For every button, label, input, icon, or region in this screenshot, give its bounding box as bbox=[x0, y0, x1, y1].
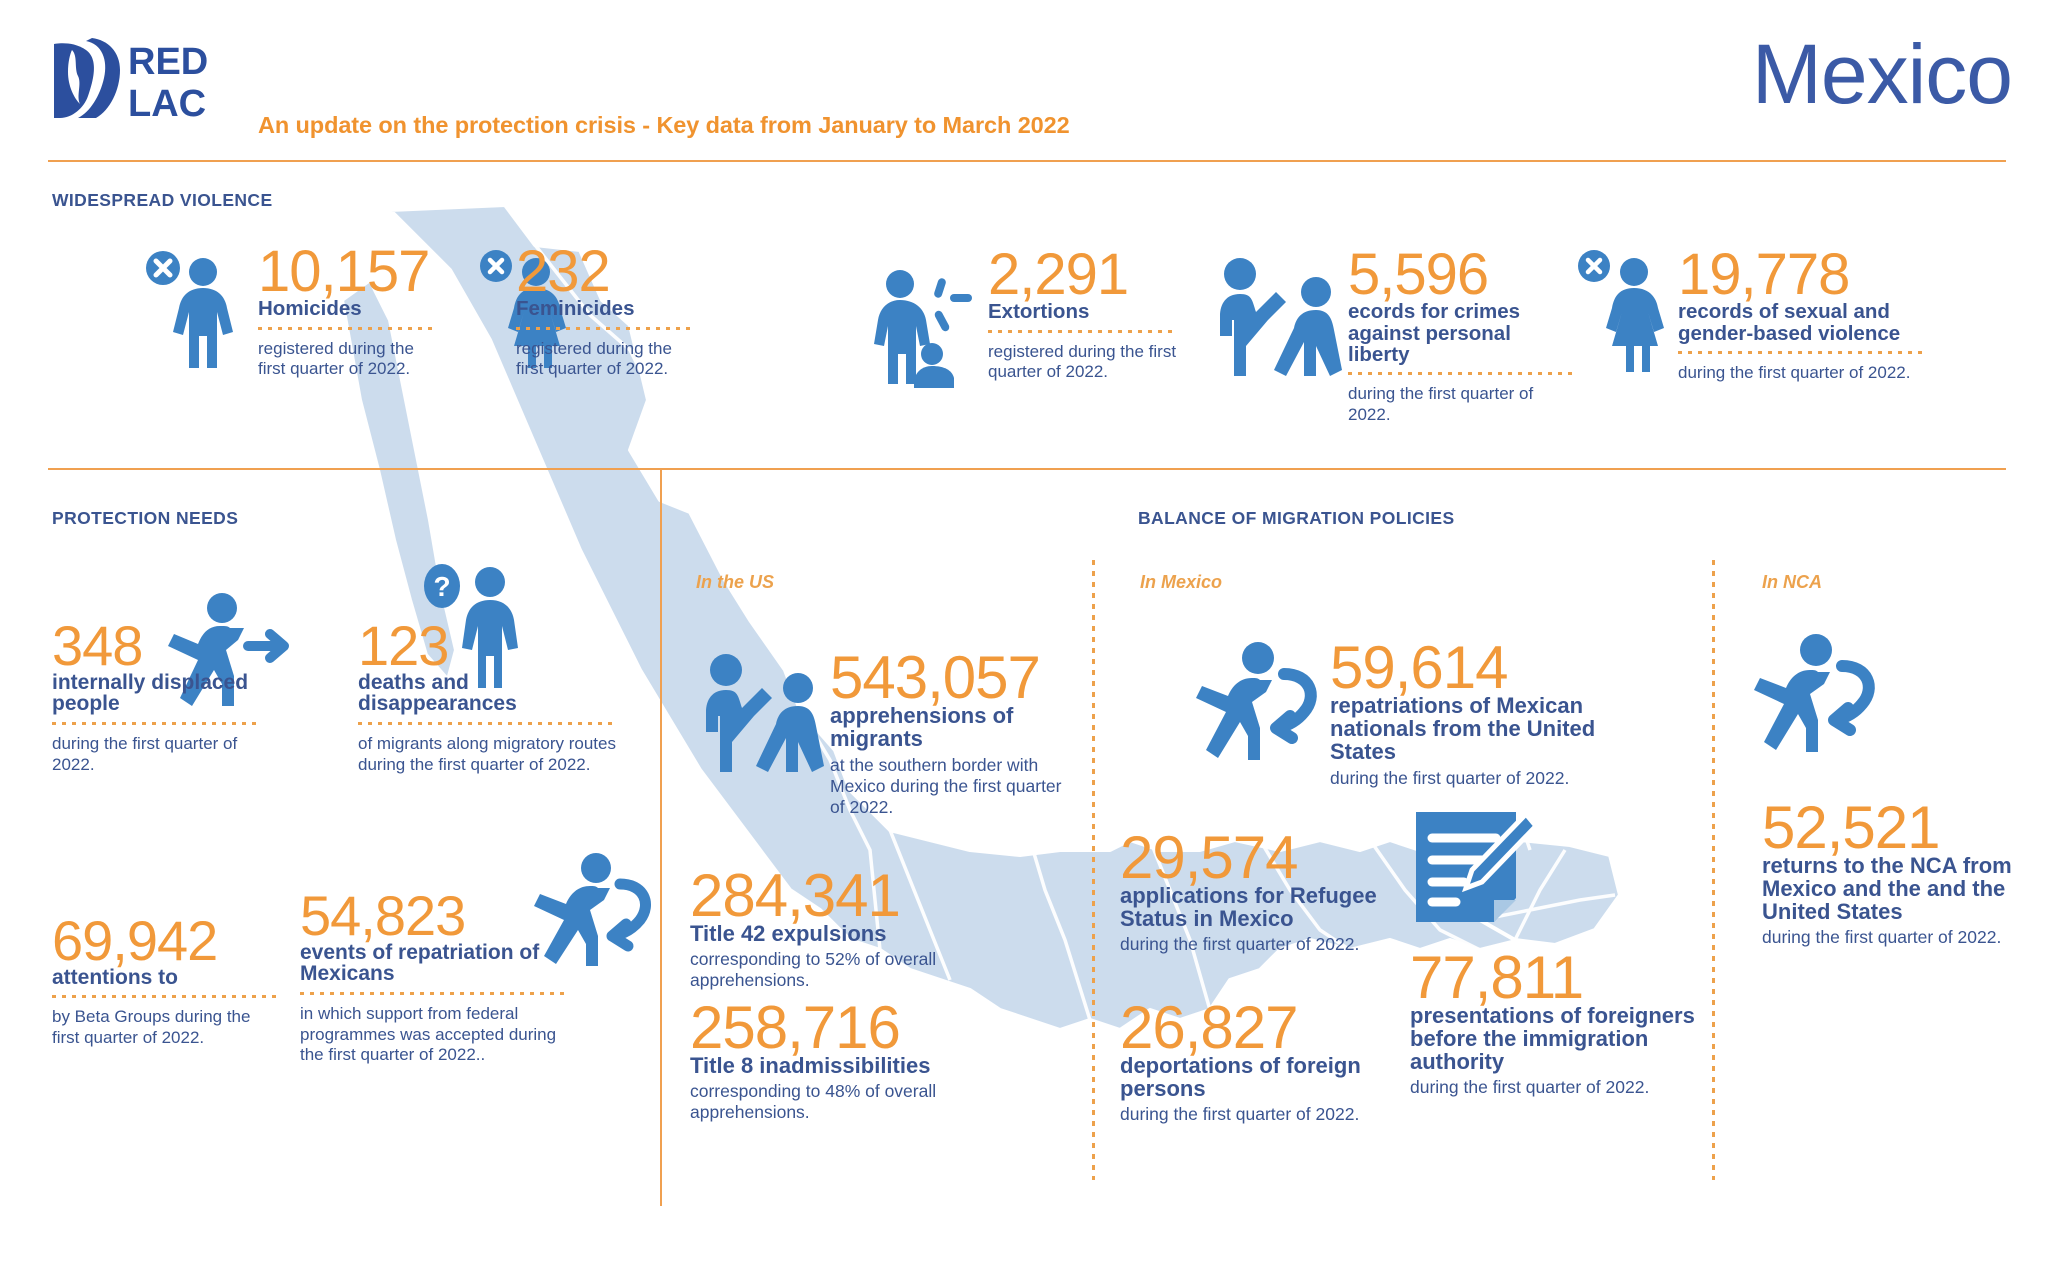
stat-deaths-disappearances: 123 deaths and disappearances of migrant… bbox=[358, 620, 618, 775]
person-threatened-icon bbox=[858, 260, 978, 390]
stat-internally-displaced: 348 internally displaced people during t… bbox=[52, 620, 262, 775]
stat-repatriation-events-label: events of repatriation of Mexicans bbox=[300, 942, 570, 986]
stat-sexual-gender-violence-label: records of sexual and gender-based viole… bbox=[1678, 301, 1928, 344]
dotted-separator bbox=[52, 995, 282, 998]
stat-feminicides-number: 232 bbox=[516, 245, 691, 298]
stat-title-42-expulsions: 284,341 Title 42 expulsions correspondin… bbox=[690, 868, 960, 991]
section-title-balance-of-migration-policies: BALANCE OF MIGRATION POLICIES bbox=[1138, 508, 1455, 529]
dotted-separator bbox=[258, 327, 433, 330]
dotted-separator bbox=[300, 992, 570, 995]
svg-text:?: ? bbox=[433, 571, 450, 602]
person-apprehended-icon bbox=[700, 648, 830, 778]
stat-beta-group-attentions-sub: by Beta Groups during the first quarter … bbox=[52, 1007, 282, 1048]
stat-homicides-number: 10,157 bbox=[258, 245, 433, 298]
stat-beta-group-attentions-number: 69,942 bbox=[52, 915, 282, 967]
person-return-icon bbox=[1750, 632, 1885, 757]
dotted-separator bbox=[358, 722, 618, 725]
stat-sexual-gender-violence-number: 19,778 bbox=[1678, 248, 1928, 301]
dotted-separator bbox=[52, 722, 262, 725]
stat-refugee-applications-number: 29,574 bbox=[1120, 830, 1385, 885]
stat-crimes-personal-liberty-label: ecords for crimes against personal liber… bbox=[1348, 301, 1578, 365]
stat-refugee-applications: 29,574 applications for Refugee Status i… bbox=[1120, 830, 1385, 955]
protection-balance-divider bbox=[660, 470, 662, 1206]
stat-returns-to-nca: 52,521 returns to the NCA from Mexico an… bbox=[1762, 800, 2027, 948]
us-mexico-dotted-divider bbox=[1092, 560, 1095, 1180]
stat-extortions-sub: registered during the first quarter of 2… bbox=[988, 342, 1178, 383]
stat-crimes-personal-liberty-sub: during the first quarter of 2022. bbox=[1348, 384, 1578, 425]
stat-title-8-inadmissibilities-label: Title 8 inadmissibilities bbox=[690, 1055, 970, 1078]
redlac-logo: RED LAC bbox=[52, 38, 232, 122]
stat-deportations-foreign-persons: 26,827 deportations of foreign persons d… bbox=[1120, 1000, 1370, 1125]
stat-extortions-label: Extortions bbox=[988, 301, 1178, 322]
stat-deportations-foreign-persons-label: deportations of foreign persons bbox=[1120, 1055, 1370, 1101]
stat-repatriations-mexican-nationals-number: 59,614 bbox=[1330, 640, 1600, 695]
stat-title-42-expulsions-sub: corresponding to 52% of overall apprehen… bbox=[690, 949, 960, 991]
stat-crimes-personal-liberty-number: 5,596 bbox=[1348, 248, 1578, 301]
stat-repatriation-events-number: 54,823 bbox=[300, 890, 570, 942]
stat-homicides: 10,157 Homicides registered during the f… bbox=[258, 245, 433, 379]
person-abducted-icon bbox=[1212, 250, 1352, 380]
middle-divider bbox=[48, 468, 2006, 470]
stat-apprehensions-migrants-sub: at the southern border with Mexico durin… bbox=[830, 755, 1080, 818]
stat-deaths-disappearances-label: deaths and disappearances bbox=[358, 672, 618, 716]
stat-feminicides: 232 Feminicides registered during the fi… bbox=[516, 245, 691, 379]
column-label-in-mexico: In Mexico bbox=[1140, 572, 1222, 593]
stat-crimes-personal-liberty: 5,596 ecords for crimes against personal… bbox=[1348, 248, 1578, 425]
stat-beta-group-attentions: 69,942 attentions to by Beta Groups duri… bbox=[52, 915, 282, 1048]
stat-repatriations-mexican-nationals-label: repatriations of Mexican nationals from … bbox=[1330, 695, 1600, 764]
stat-deaths-disappearances-number: 123 bbox=[358, 620, 618, 672]
infographic-canvas: RED LAC An update on the protection cris… bbox=[0, 0, 2048, 1274]
stat-apprehensions-migrants-label: apprehensions of migrants bbox=[830, 705, 1080, 751]
stat-deportations-foreign-persons-sub: during the first quarter of 2022. bbox=[1120, 1104, 1370, 1125]
column-label-in-nca: In NCA bbox=[1762, 572, 1822, 593]
dotted-separator bbox=[1678, 351, 1928, 354]
stat-feminicides-label: Feminicides bbox=[516, 298, 691, 319]
stat-title-42-expulsions-number: 284,341 bbox=[690, 868, 960, 923]
stat-returns-to-nca-sub: during the first quarter of 2022. bbox=[1762, 927, 2027, 948]
stat-feminicides-sub: registered during the first quarter of 2… bbox=[516, 339, 691, 380]
stat-internally-displaced-number: 348 bbox=[52, 620, 262, 672]
stat-repatriations-mexican-nationals-sub: during the first quarter of 2022. bbox=[1330, 768, 1600, 789]
dotted-separator bbox=[988, 330, 1178, 333]
page-subtitle: An update on the protection crisis - Key… bbox=[258, 112, 1070, 139]
stat-apprehensions-migrants-number: 543,057 bbox=[830, 650, 1080, 705]
section-title-protection-needs: PROTECTION NEEDS bbox=[52, 508, 238, 529]
stat-presentations-foreigners-number: 77,811 bbox=[1410, 950, 1700, 1005]
document-pen-icon bbox=[1408, 812, 1538, 942]
logo-text-lac: LAC bbox=[128, 83, 206, 125]
stat-title-8-inadmissibilities-sub: corresponding to 48% of overall apprehen… bbox=[690, 1081, 970, 1123]
person-female-violence-icon bbox=[1578, 250, 1678, 375]
stat-returns-to-nca-number: 52,521 bbox=[1762, 800, 2027, 855]
column-label-in-the-us: In the US bbox=[696, 572, 774, 593]
stat-homicides-sub: registered during the first quarter of 2… bbox=[258, 339, 433, 380]
stat-deportations-foreign-persons-number: 26,827 bbox=[1120, 1000, 1370, 1055]
stat-presentations-foreigners: 77,811 presentations of foreigners befor… bbox=[1410, 950, 1700, 1098]
stat-extortions: 2,291 Extortions registered during the f… bbox=[988, 248, 1178, 382]
stat-refugee-applications-label: applications for Refugee Status in Mexic… bbox=[1120, 885, 1385, 931]
stat-refugee-applications-sub: during the first quarter of 2022. bbox=[1120, 934, 1385, 955]
stat-presentations-foreigners-label: presentations of foreigners before the i… bbox=[1410, 1005, 1700, 1074]
page-header: RED LAC An update on the protection cris… bbox=[0, 0, 2048, 168]
stat-internally-displaced-sub: during the first quarter of 2022. bbox=[52, 734, 262, 775]
stat-extortions-number: 2,291 bbox=[988, 248, 1178, 301]
stat-sexual-gender-violence: 19,778 records of sexual and gender-base… bbox=[1678, 248, 1928, 383]
mexico-nca-dotted-divider bbox=[1712, 560, 1715, 1180]
stat-repatriation-events: 54,823 events of repatriation of Mexican… bbox=[300, 890, 570, 1065]
stat-title-8-inadmissibilities-number: 258,716 bbox=[690, 1000, 970, 1055]
stat-repatriation-events-sub: in which support from federal programmes… bbox=[300, 1004, 570, 1065]
person-male-killed-icon bbox=[145, 250, 245, 370]
stat-returns-to-nca-label: returns to the NCA from Mexico and the a… bbox=[1762, 855, 2027, 924]
stat-sexual-gender-violence-sub: during the first quarter of 2022. bbox=[1678, 363, 1928, 383]
stat-repatriations-mexican-nationals: 59,614 repatriations of Mexican national… bbox=[1330, 640, 1600, 789]
dotted-separator bbox=[1348, 372, 1578, 375]
stat-internally-displaced-label: internally displaced people bbox=[52, 672, 262, 716]
stat-beta-group-attentions-label: attentions to bbox=[52, 967, 282, 989]
dotted-separator bbox=[516, 327, 691, 330]
stat-deaths-disappearances-sub: of migrants along migratory routes durin… bbox=[358, 734, 618, 775]
section-title-widespread-violence: WIDESPREAD VIOLENCE bbox=[52, 190, 273, 211]
person-return-icon bbox=[1190, 640, 1325, 765]
logo-text-red: RED bbox=[128, 41, 208, 83]
stat-apprehensions-migrants: 543,057 apprehensions of migrants at the… bbox=[830, 650, 1080, 818]
page-title: Mexico bbox=[1752, 32, 2012, 116]
stat-presentations-foreigners-sub: during the first quarter of 2022. bbox=[1410, 1077, 1700, 1098]
stat-title-8-inadmissibilities: 258,716 Title 8 inadmissibilities corres… bbox=[690, 1000, 970, 1123]
stat-title-42-expulsions-label: Title 42 expulsions bbox=[690, 923, 960, 946]
